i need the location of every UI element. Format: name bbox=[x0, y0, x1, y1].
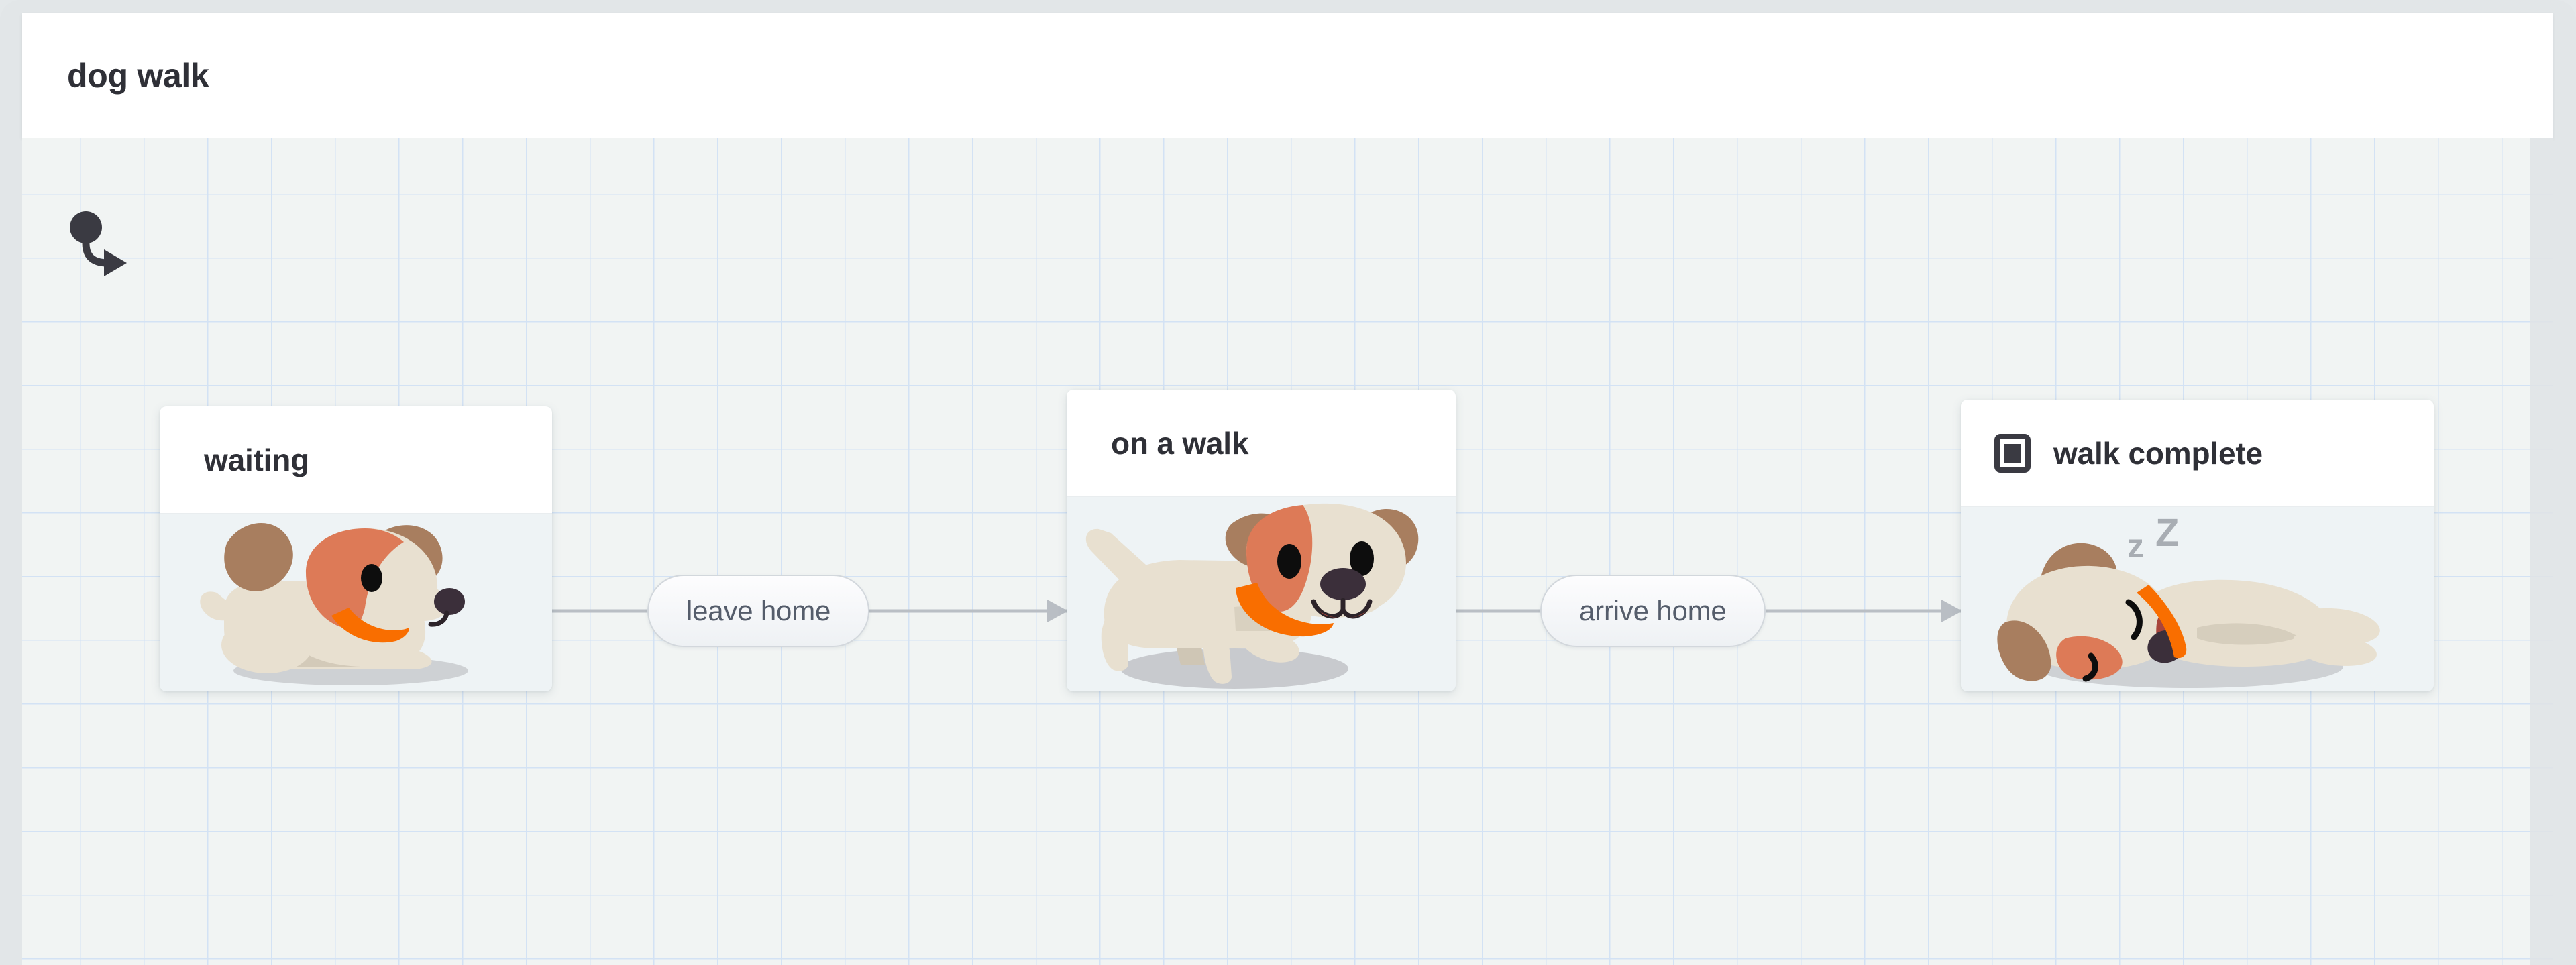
edge-arrowhead bbox=[1047, 600, 1068, 622]
initial-state-marker[interactable] bbox=[69, 211, 129, 284]
transition-arrive-home[interactable]: arrive home bbox=[1454, 547, 1964, 675]
state-node-label: walk complete bbox=[2053, 435, 2263, 471]
state-node-waiting[interactable]: waiting bbox=[160, 406, 552, 691]
title-bar: dog walk bbox=[22, 13, 2553, 138]
state-node-header: waiting bbox=[160, 406, 552, 514]
final-state-icon bbox=[1992, 433, 2033, 474]
sleep-mark-z-small: z bbox=[2127, 527, 2144, 565]
edge-arrowhead bbox=[1941, 600, 1962, 622]
transition-label: arrive home bbox=[1579, 595, 1727, 626]
state-node-header: walk complete bbox=[1961, 400, 2434, 507]
state-node-label: waiting bbox=[204, 442, 309, 478]
app-frame: dog walk waiting bbox=[0, 0, 2576, 965]
state-illustration-dog-sleeping: z Z bbox=[1961, 507, 2434, 691]
state-node-walk-complete[interactable]: walk complete z Z bbox=[1961, 400, 2434, 691]
transition-leave-home[interactable]: leave home bbox=[552, 547, 1069, 675]
state-illustration-dog-lying-down bbox=[160, 514, 552, 691]
sleep-mark-z-large: Z bbox=[2155, 511, 2179, 555]
state-illustration-dog-walking bbox=[1067, 497, 1456, 691]
diagram-canvas[interactable]: waiting bbox=[22, 138, 2553, 965]
state-node-header: on a walk bbox=[1067, 390, 1456, 497]
state-node-on-a-walk[interactable]: on a walk bbox=[1067, 390, 1456, 691]
transition-label-pill[interactable]: leave home bbox=[647, 575, 869, 647]
transition-label-pill[interactable]: arrive home bbox=[1540, 575, 1766, 647]
transition-label: leave home bbox=[686, 595, 830, 626]
state-node-label: on a walk bbox=[1111, 425, 1248, 461]
page-title: dog walk bbox=[67, 56, 209, 95]
